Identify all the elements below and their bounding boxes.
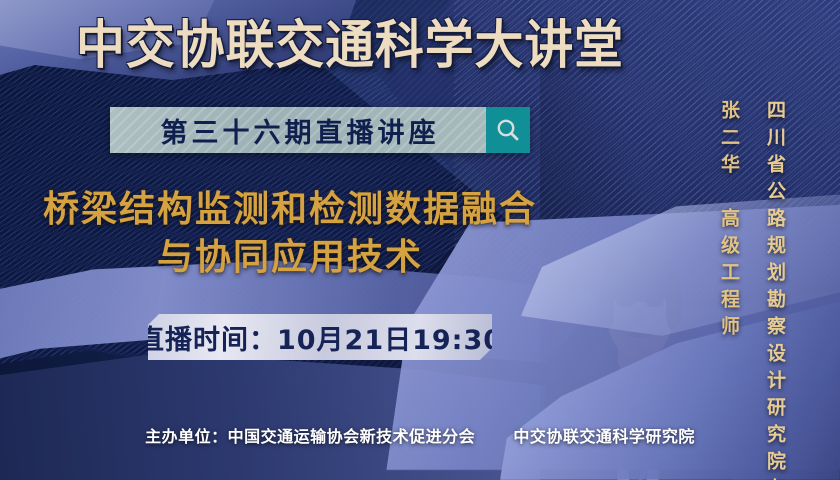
search-icon [495,117,521,143]
lecture-title-line-1: 桥梁结构监测和检测数据融合 [20,186,560,234]
search-button[interactable] [486,107,530,153]
organizer-primary: 主办单位：中国交通运输协会新技术促进分会 [145,427,475,446]
webinar-poster: 中交协联交通科学大讲堂 第三十六期直播讲座 桥梁结构监测和检测数据融合 与协同应… [0,0,840,480]
episode-banner: 第三十六期直播讲座 [110,107,530,153]
broadcast-time-label: 直播时间：10月21日19:30 [137,318,503,357]
episode-banner-background: 第三十六期直播讲座 [110,107,486,153]
lecture-title: 桥梁结构监测和检测数据融合 与协同应用技术 [20,186,560,282]
lecture-title-line-2: 与协同应用技术 [20,234,560,282]
page-title: 中交协联交通科学大讲堂 [21,18,679,74]
episode-label: 第三十六期直播讲座 [157,111,440,150]
background-teal-glow [67,365,386,471]
organizers-footer: 主办单位：中国交通运输协会新技术促进分会 中交协联交通科学研究院 [0,423,840,447]
organizer-secondary: 中交协联交通科学研究院 [513,427,695,446]
broadcast-time-banner: 直播时间：10月21日19:30 [148,314,492,360]
speaker-name-vertical: 张二华 高级工程师 [716,100,743,343]
